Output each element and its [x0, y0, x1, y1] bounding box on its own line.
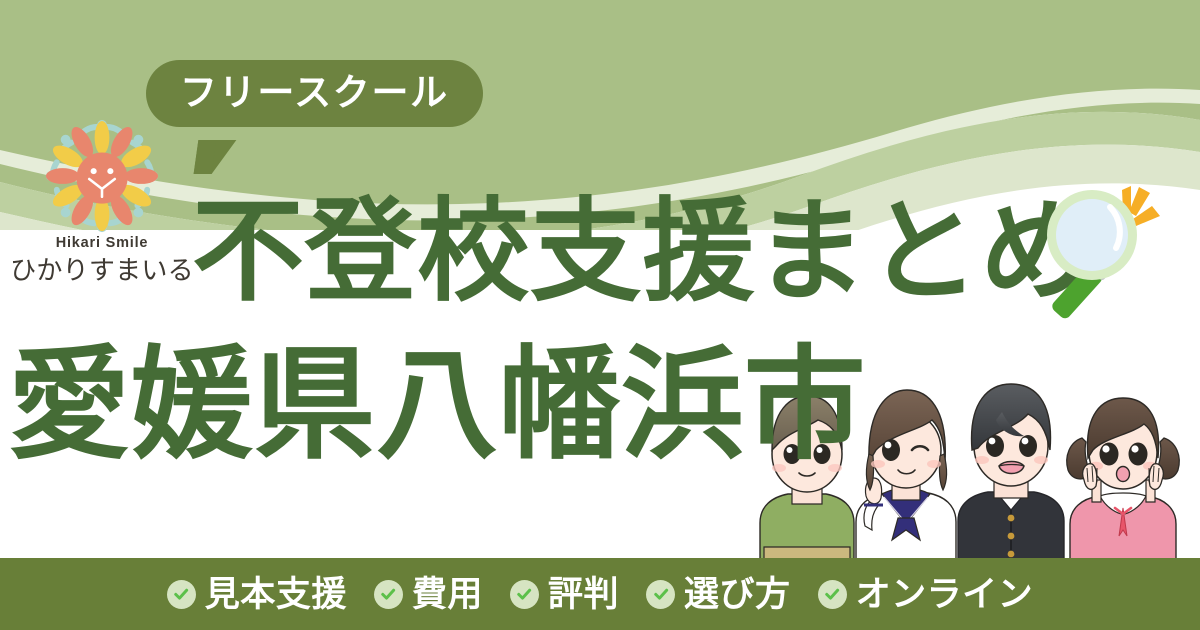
feature-tag-label: 費用 — [412, 577, 483, 612]
logo-english-name: Hikari Smile — [8, 236, 196, 251]
feature-tag-4[interactable]: オンライン — [818, 577, 1034, 612]
character-girl-sailor-uniform — [856, 390, 956, 562]
check-circle-icon — [646, 580, 675, 609]
character-boy-gakuran-uniform — [958, 384, 1064, 562]
magnifying-glass-icon — [1026, 168, 1182, 334]
logo-japanese-name: ひかりすまいる — [8, 256, 196, 285]
feature-tag-label: 選び方 — [684, 577, 791, 612]
feature-tag-0[interactable]: 見本支援 — [167, 577, 347, 612]
feature-tag-2[interactable]: 評判 — [510, 577, 619, 612]
speech-bubble: フリースクール — [146, 60, 483, 127]
check-circle-icon — [167, 580, 196, 609]
feature-tag-1[interactable]: 費用 — [374, 577, 483, 612]
four-students-illustration — [752, 358, 1200, 562]
brand-logo: Hikari Smile ひかりすまいる — [8, 120, 196, 285]
feature-tag-label: オンライン — [856, 577, 1034, 612]
feature-tag-label: 見本支援 — [205, 577, 347, 612]
speech-bubble-label: フリースクール — [180, 74, 449, 111]
hikari-smile-sun-logo — [17, 120, 187, 238]
banner-root: Hikari Smile ひかりすまいる フリースクール 不登校支援まとめ 愛媛… — [0, 0, 1200, 630]
check-circle-icon — [374, 580, 403, 609]
character-boy-green-shirt — [760, 387, 854, 562]
character-girl-twintails-pink — [1067, 398, 1179, 562]
check-circle-icon — [510, 580, 539, 609]
bottom-feature-bar: 見本支援 費用 評判 選び方 — [0, 558, 1200, 630]
check-circle-icon — [818, 580, 847, 609]
feature-tag-label: 評判 — [548, 577, 619, 612]
speech-bubble-tail — [194, 140, 237, 174]
feature-tag-3[interactable]: 選び方 — [646, 577, 791, 612]
